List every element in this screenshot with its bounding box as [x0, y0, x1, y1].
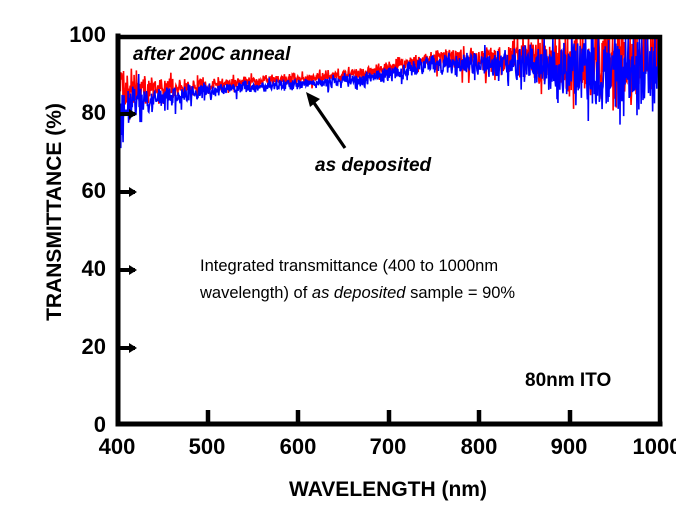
annotation-after-anneal: after 200C anneal [133, 44, 290, 66]
y-tick-40-head [129, 265, 137, 275]
annotation-integrated-line2: wavelength) of as deposited sample = 90% [200, 280, 515, 307]
annotation-integrated-line2-suffix: sample = 90% [405, 284, 515, 302]
annotation-as-deposited: as deposited [315, 155, 431, 177]
transmittance-chart-figure: TRANSMITTANCE (%) 100 80 60 40 20 0 400 … [0, 0, 676, 518]
annotation-integrated-line1: Integrated transmittance (400 to 1000nm [200, 253, 515, 280]
y-tick-20-head [129, 343, 137, 353]
arrow-shaft [312, 100, 345, 148]
as-deposited-callout-arrow [306, 92, 345, 148]
annotation-integrated-transmittance: Integrated transmittance (400 to 1000nm … [200, 253, 515, 307]
annotation-integrated-line2-prefix: wavelength) of [200, 284, 312, 302]
arrow-head [306, 92, 320, 107]
y-tick-60-head [129, 187, 137, 197]
annotation-integrated-line2-italic: as deposited [312, 284, 406, 302]
annotation-sample-label: 80nm ITO [525, 370, 611, 392]
y-axis-ticks [120, 109, 137, 353]
